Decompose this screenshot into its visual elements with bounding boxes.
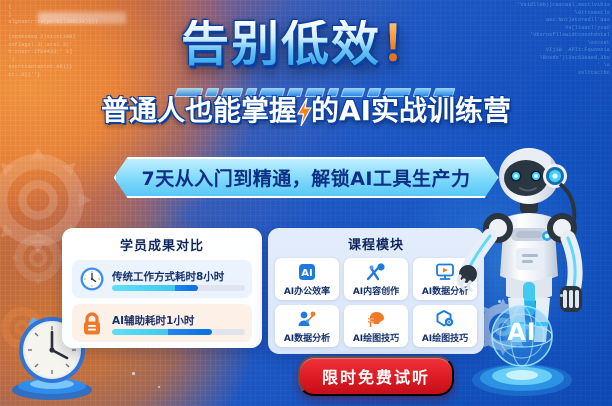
progress-bar bbox=[112, 285, 245, 291]
ai-badge-icon: AI bbox=[296, 262, 318, 282]
clock-icon bbox=[79, 266, 105, 292]
subtitle-after-text: 的AI实战训练营 bbox=[311, 94, 511, 127]
gear-icon bbox=[6, 226, 70, 290]
sparkle-dot bbox=[158, 386, 160, 388]
stat-row: AI辅助耗时1小时 bbox=[72, 304, 252, 342]
sparkle-dot bbox=[520, 286, 522, 288]
progress-segment-light bbox=[112, 285, 175, 291]
module-item[interactable]: AI内容创作 bbox=[344, 258, 408, 300]
user-analytics-icon bbox=[296, 309, 318, 329]
headline-main-text: 告别低效 bbox=[181, 16, 381, 72]
ai-hologram: AI bbox=[468, 296, 576, 400]
modules-grid: AI AI办公效率 AI内容创作 bbox=[275, 258, 477, 347]
stat-label: 传统工作方式耗时8小时 bbox=[112, 271, 224, 283]
module-item[interactable]: AI数据分析 bbox=[275, 305, 339, 347]
module-label: AI数据分析 bbox=[284, 331, 330, 344]
progress-segment-dark bbox=[175, 285, 199, 291]
progress-segment-dark bbox=[168, 329, 212, 335]
stat-label: AI辅助耗时1小时 bbox=[112, 315, 194, 327]
modules-card: 课程模块 AI AI办公效率 bbox=[268, 228, 484, 354]
results-card-title: 学员成果对比 bbox=[72, 235, 252, 254]
module-item[interactable]: AI AI办公效率 bbox=[275, 258, 339, 300]
progress-segment-light bbox=[112, 329, 168, 335]
subtitle-before-text: 普通人也能掌握 bbox=[101, 94, 297, 127]
module-label: AI内容创作 bbox=[353, 284, 399, 297]
pen-brush-icon bbox=[365, 262, 387, 282]
hexagon-gear-icon bbox=[434, 309, 456, 329]
paint-palette-icon bbox=[365, 309, 387, 329]
stat-row: 传统工作方式耗时8小时 bbox=[72, 260, 252, 298]
sparkle-dot bbox=[498, 300, 501, 303]
headline-exclamation: ！ bbox=[381, 16, 431, 72]
sparkle-dot bbox=[132, 372, 135, 375]
cta-block: 限时免费试听 bbox=[268, 356, 484, 396]
free-trial-button[interactable]: 限时免费试听 bbox=[298, 356, 454, 396]
stat-body: 传统工作方式耗时8小时 bbox=[112, 267, 245, 291]
tagline-banner: 7天从入门到精通，解锁AI工具生产力 bbox=[114, 157, 499, 198]
lock-icon bbox=[79, 310, 105, 336]
module-label: AI办公效率 bbox=[284, 284, 330, 297]
headline-text: 告别低效！ bbox=[181, 20, 431, 68]
poster-canvas: { } algoaetr:ts(perkil360C3A)}}) (xqskse… bbox=[0, 0, 612, 406]
module-item[interactable]: AI绘图技巧 bbox=[344, 305, 408, 347]
results-card: 学员成果对比 传统工作方式耗时8小时 bbox=[62, 228, 262, 348]
sparkle-dot bbox=[560, 294, 563, 297]
module-label: AI绘图技巧 bbox=[353, 331, 399, 344]
progress-bar bbox=[112, 329, 245, 335]
svg-text:AI: AI bbox=[301, 268, 312, 279]
monitor-play-icon bbox=[434, 262, 456, 282]
modules-card-title: 课程模块 bbox=[275, 234, 477, 253]
lightning-bolt-icon bbox=[296, 98, 312, 126]
hologram-label: AI bbox=[468, 318, 576, 346]
stat-body: AI辅助耗时1小时 bbox=[112, 311, 245, 335]
subtitle-block: 普通人也能掌握的AI实战训练营 bbox=[0, 96, 612, 127]
headline-block: 告别低效！ bbox=[0, 20, 612, 68]
